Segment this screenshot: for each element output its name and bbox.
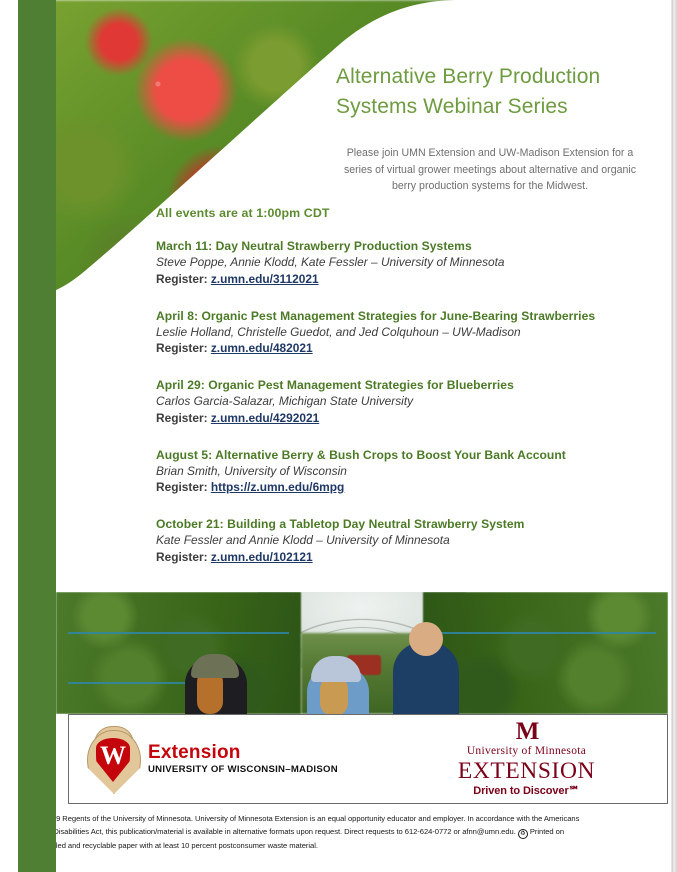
logo-bar: W Extension UNIVERSITY OF WISCONSIN–MADI… xyxy=(68,714,668,804)
uw-crest-letter: W xyxy=(96,740,130,774)
event-title: April 29: Organic Pest Management Strate… xyxy=(156,377,656,393)
event-register-link[interactable]: z.umn.edu/3112021 xyxy=(211,272,319,286)
event-presenters: Leslie Holland, Christelle Guedot, and J… xyxy=(156,324,656,341)
event-title: October 21: Building a Tabletop Day Neut… xyxy=(156,516,656,532)
umn-university-label: University of Minnesota xyxy=(458,744,595,759)
flyer-page: Alternative Berry Production Systems Web… xyxy=(0,0,677,872)
disclaimer: ©2019 Regents of the University of Minne… xyxy=(38,812,650,853)
event-item: April 29: Organic Pest Management Strate… xyxy=(156,377,656,426)
event-register-line: Register: https://z.umn.edu/6mpg xyxy=(156,479,656,496)
register-label: Register: xyxy=(156,272,211,286)
person-head xyxy=(409,622,443,656)
uw-logo-text: Extension UNIVERSITY OF WISCONSIN–MADISO… xyxy=(148,743,338,776)
person-walking xyxy=(307,666,369,714)
umn-tagline: Driven to Discover℠ xyxy=(458,784,595,798)
left-green-bar-overlay xyxy=(18,0,56,872)
intro-paragraph: Please join UMN Extension and UW-Madison… xyxy=(335,145,645,195)
event-item: October 21: Building a Tabletop Day Neut… xyxy=(156,516,656,565)
time-note: All events are at 1:00pm CDT xyxy=(156,206,330,220)
disclaimer-line-2: with Disabilities Act, this publication/… xyxy=(38,825,650,839)
event-list: March 11: Day Neutral Strawberry Product… xyxy=(156,238,656,586)
event-register-link[interactable]: https://z.umn.edu/6mpg xyxy=(211,480,344,494)
window-right-edge xyxy=(669,0,677,872)
page-title-line2: Systems Webinar Series xyxy=(336,92,646,122)
register-label: Register: xyxy=(156,550,211,564)
event-register-link[interactable]: z.umn.edu/102121 xyxy=(211,550,313,564)
person-cap xyxy=(191,654,239,678)
event-presenters: Steve Poppe, Annie Klodd, Kate Fessler –… xyxy=(156,254,656,271)
event-presenters: Carlos Garcia-Salazar, Michigan State Un… xyxy=(156,393,656,410)
register-label: Register: xyxy=(156,480,211,494)
disclaimer-line-1: ©2019 Regents of the University of Minne… xyxy=(38,812,650,825)
uw-crest-icon: W xyxy=(87,726,139,792)
person-walking xyxy=(185,658,247,714)
event-title: March 11: Day Neutral Strawberry Product… xyxy=(156,238,656,254)
event-presenters: Brian Smith, University of Wisconsin xyxy=(156,463,656,480)
register-label: Register: xyxy=(156,341,211,355)
uw-extension-label: Extension xyxy=(148,743,338,763)
recycle-icon: ♻ xyxy=(518,829,528,839)
umn-extension-label: EXTENSION xyxy=(458,759,595,784)
event-register-line: Register: z.umn.edu/102121 xyxy=(156,549,656,566)
trellis-wire xyxy=(435,632,655,634)
event-title: August 5: Alternative Berry & Bush Crops… xyxy=(156,447,656,463)
event-item: April 8: Organic Pest Management Strateg… xyxy=(156,308,656,357)
event-register-link[interactable]: z.umn.edu/482021 xyxy=(211,341,313,355)
umn-extension-logo: M University of Minnesota EXTENSION Driv… xyxy=(458,720,595,798)
register-label: Register: xyxy=(156,411,211,425)
page-title-line1: Alternative Berry Production xyxy=(336,62,646,92)
trellis-wire xyxy=(68,632,288,634)
event-register-line: Register: z.umn.edu/3112021 xyxy=(156,271,656,288)
berry-row-right xyxy=(423,592,668,714)
event-title: April 8: Organic Pest Management Strateg… xyxy=(156,308,656,324)
event-presenters: Kate Fessler and Annie Klodd – Universit… xyxy=(156,532,656,549)
event-register-line: Register: z.umn.edu/482021 xyxy=(156,340,656,357)
uw-institution-label: UNIVERSITY OF WISCONSIN–MADISON xyxy=(148,763,338,776)
page-title: Alternative Berry Production Systems Web… xyxy=(336,62,646,122)
disclaimer-line-3: recycled and recyclable paper with at le… xyxy=(38,839,650,852)
berry-row-left xyxy=(56,592,301,714)
event-register-link[interactable]: z.umn.edu/4292021 xyxy=(211,411,319,425)
person-walking xyxy=(393,642,459,714)
disclaimer-line-2-tail: Printed on xyxy=(530,827,564,836)
event-item: March 11: Day Neutral Strawberry Product… xyxy=(156,238,656,287)
umn-m-icon: M xyxy=(458,720,595,744)
event-item: August 5: Alternative Berry & Bush Crops… xyxy=(156,447,656,496)
uw-extension-logo: W Extension UNIVERSITY OF WISCONSIN–MADI… xyxy=(87,726,338,792)
high-tunnel-field-photo xyxy=(56,592,668,714)
event-register-line: Register: z.umn.edu/4292021 xyxy=(156,410,656,427)
disclaimer-line-2-text: with Disabilities Act, this publication/… xyxy=(38,827,516,836)
